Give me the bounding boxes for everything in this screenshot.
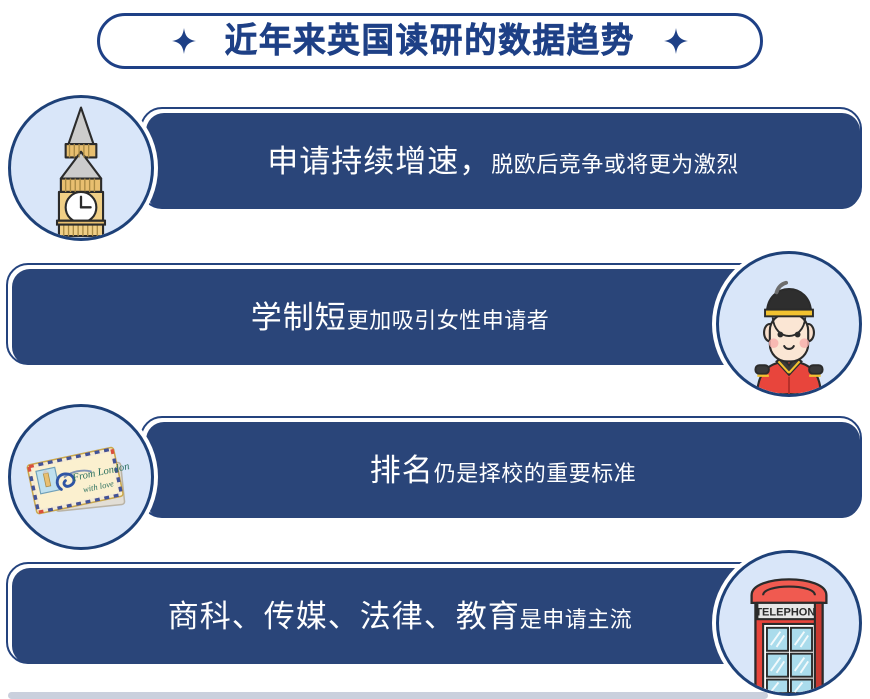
royal-guard-icon-circle [716, 251, 862, 397]
big-ben-icon [11, 98, 151, 238]
page-title: 近年来英国读研的数据趋势 [225, 24, 635, 58]
telephone-booth-icon: TELEPHONE [719, 553, 859, 693]
info-row-3: 排名仍是择校的重要标准 [0, 404, 870, 550]
info-bar-3: 排名仍是择校的重要标准 [146, 422, 860, 518]
info-bar-1-sub: 脱欧后竞争或将更为激烈 [491, 152, 739, 177]
info-bar-2: 学制短更加吸引女性申请者 [12, 269, 788, 365]
info-row-2: 学制短更加吸引女性申请者 [0, 251, 870, 397]
info-bar-2-label: 学制短更加吸引女性申请者 [241, 302, 560, 333]
info-bar-1-main: 申请持续增速， [267, 144, 491, 179]
info-bar-1-label: 申请持续增速，脱欧后竞争或将更为激烈 [257, 146, 749, 177]
telephone-sign-text: TELEPHONE [755, 606, 822, 618]
info-row-4: 商科、传媒、法律、教育是申请主流 TELEPHONE [0, 550, 870, 696]
sparkle-icon-right [664, 28, 688, 54]
info-bar-3-label: 排名仍是择校的重要标准 [360, 455, 647, 486]
bottom-cutoff-sliver [8, 692, 768, 699]
london-postcard-icon-circle: From London with love [8, 404, 154, 550]
info-bar-3-main: 排名 [370, 453, 434, 488]
info-bar-3-sub: 仍是择校的重要标准 [434, 461, 637, 486]
london-postcard-icon: From London with love [11, 407, 151, 547]
info-row-1: 申请持续增速，脱欧后竞争或将更为激烈 [0, 95, 870, 241]
info-bar-2-sub: 更加吸引女性申请者 [347, 308, 550, 333]
royal-guard-icon [719, 254, 859, 394]
info-bar-4: 商科、传媒、法律、教育是申请主流 [12, 568, 788, 664]
page-title-banner: 近年来英国读研的数据趋势 [97, 13, 763, 69]
sparkle-icon-left [172, 28, 196, 54]
big-ben-icon-circle [8, 95, 154, 241]
info-bar-2-main: 学制短 [251, 300, 347, 335]
info-bar-4-label: 商科、传媒、法律、教育是申请主流 [158, 601, 643, 632]
info-bar-4-sub: 是申请主流 [520, 607, 633, 632]
info-bar-1: 申请持续增速，脱欧后竞争或将更为激烈 [146, 113, 860, 209]
info-bar-4-main: 商科、传媒、法律、教育 [168, 599, 520, 634]
telephone-booth-icon-circle: TELEPHONE [716, 550, 862, 696]
